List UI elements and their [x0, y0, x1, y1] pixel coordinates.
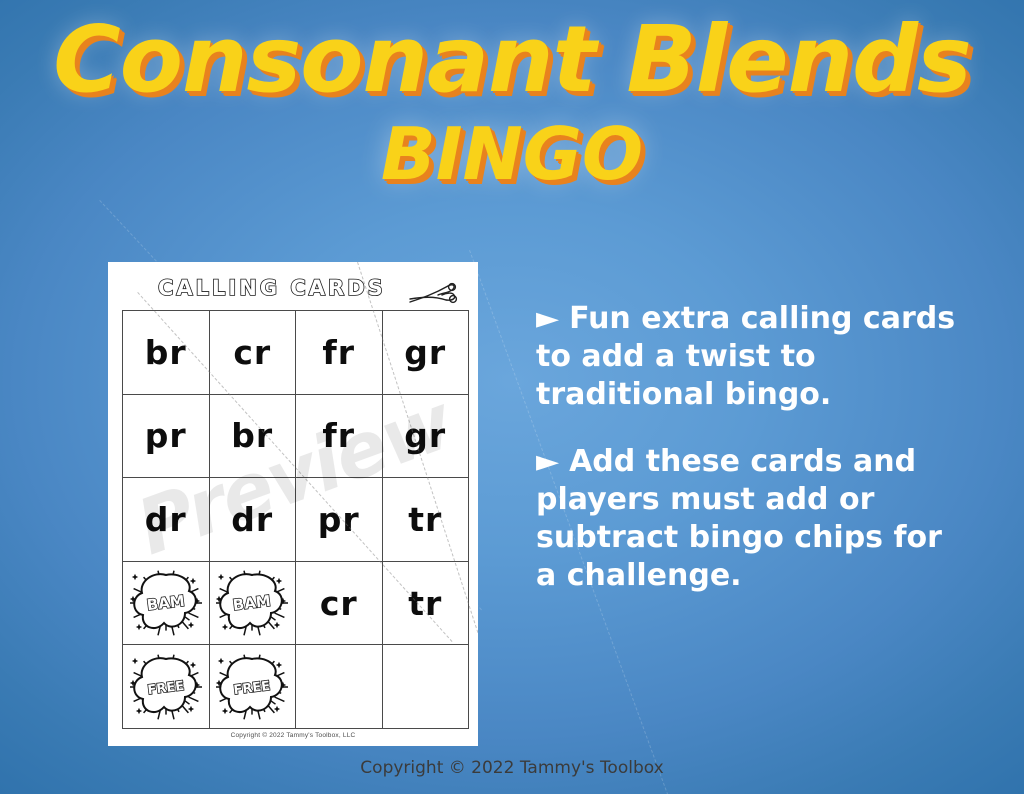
- calling-card-cell[interactable]: pr: [296, 478, 383, 562]
- slide-canvas: Consonant Blends BINGO CALLING CARDS: [0, 0, 1024, 794]
- calling-card-cell[interactable]: FREE: [210, 645, 297, 729]
- blend-label: tr: [408, 503, 442, 536]
- calling-card-cell[interactable]: cr: [296, 562, 383, 646]
- blend-label: br: [231, 419, 273, 452]
- worksheet-header: CALLING CARDS: [108, 272, 478, 306]
- blend-label: fr: [322, 419, 355, 452]
- calling-card-cell[interactable]: gr: [383, 311, 470, 395]
- burst-bam-icon: BAM: [127, 567, 205, 639]
- play-triangle-icon: ►: [536, 301, 559, 336]
- blend-label: dr: [145, 503, 187, 536]
- blend-label: dr: [231, 503, 273, 536]
- calling-cards-grid[interactable]: brcrfrgrprbrfrgrdrdrprtr BAM BAM crtr FR…: [122, 310, 469, 729]
- calling-card-cell[interactable]: br: [123, 311, 210, 395]
- blend-label: gr: [404, 419, 446, 452]
- burst-free-icon: FREE: [127, 651, 205, 723]
- burst-free-icon: FREE: [213, 651, 291, 723]
- blend-label: cr: [320, 587, 358, 620]
- calling-cards-heading: CALLING CARDS: [158, 276, 386, 300]
- calling-card-cell[interactable]: pr: [123, 395, 210, 479]
- blend-label: tr: [408, 587, 442, 620]
- blend-label: pr: [318, 503, 360, 536]
- blend-label: pr: [145, 419, 187, 452]
- burst-bam-icon: BAM: [213, 567, 291, 639]
- page-subtitle: BINGO: [0, 118, 1024, 190]
- calling-card-cell[interactable]: BAM: [210, 562, 297, 646]
- description-text: Fun extra calling cards to add a twist t…: [536, 301, 955, 412]
- description-list: ►Fun extra calling cards to add a twist …: [536, 300, 956, 625]
- blend-label: fr: [322, 336, 355, 369]
- calling-card-cell[interactable]: gr: [383, 395, 470, 479]
- calling-card-cell[interactable]: tr: [383, 478, 470, 562]
- description-text: Add these cards and players must add or …: [536, 444, 942, 592]
- worksheet-preview[interactable]: CALLING CARDS brcrfrgrprbrfrgrdrdrprtr B…: [108, 262, 478, 746]
- blend-label: br: [145, 336, 187, 369]
- footer-copyright: Copyright © 2022 Tammy's Toolbox: [0, 758, 1024, 778]
- calling-card-cell[interactable]: [383, 645, 470, 729]
- page-title: Consonant Blends: [0, 14, 1024, 106]
- calling-card-cell[interactable]: FREE: [123, 645, 210, 729]
- blend-label: cr: [233, 336, 271, 369]
- calling-card-cell[interactable]: fr: [296, 395, 383, 479]
- blend-label: gr: [404, 336, 446, 369]
- calling-card-cell[interactable]: dr: [123, 478, 210, 562]
- description-item: ►Add these cards and players must add or…: [536, 443, 956, 594]
- title-block: Consonant Blends BINGO: [0, 14, 1024, 190]
- calling-card-cell[interactable]: dr: [210, 478, 297, 562]
- calling-card-cell[interactable]: tr: [383, 562, 470, 646]
- worksheet-copyright: Copyright © 2022 Tammy's Toolbox, LLC: [108, 732, 478, 739]
- calling-card-cell[interactable]: cr: [210, 311, 297, 395]
- calling-card-cell[interactable]: fr: [296, 311, 383, 395]
- calling-card-cell[interactable]: [296, 645, 383, 729]
- calling-card-cell[interactable]: BAM: [123, 562, 210, 646]
- calling-card-cell[interactable]: br: [210, 395, 297, 479]
- description-item: ►Fun extra calling cards to add a twist …: [536, 300, 956, 413]
- play-triangle-icon: ►: [536, 444, 559, 479]
